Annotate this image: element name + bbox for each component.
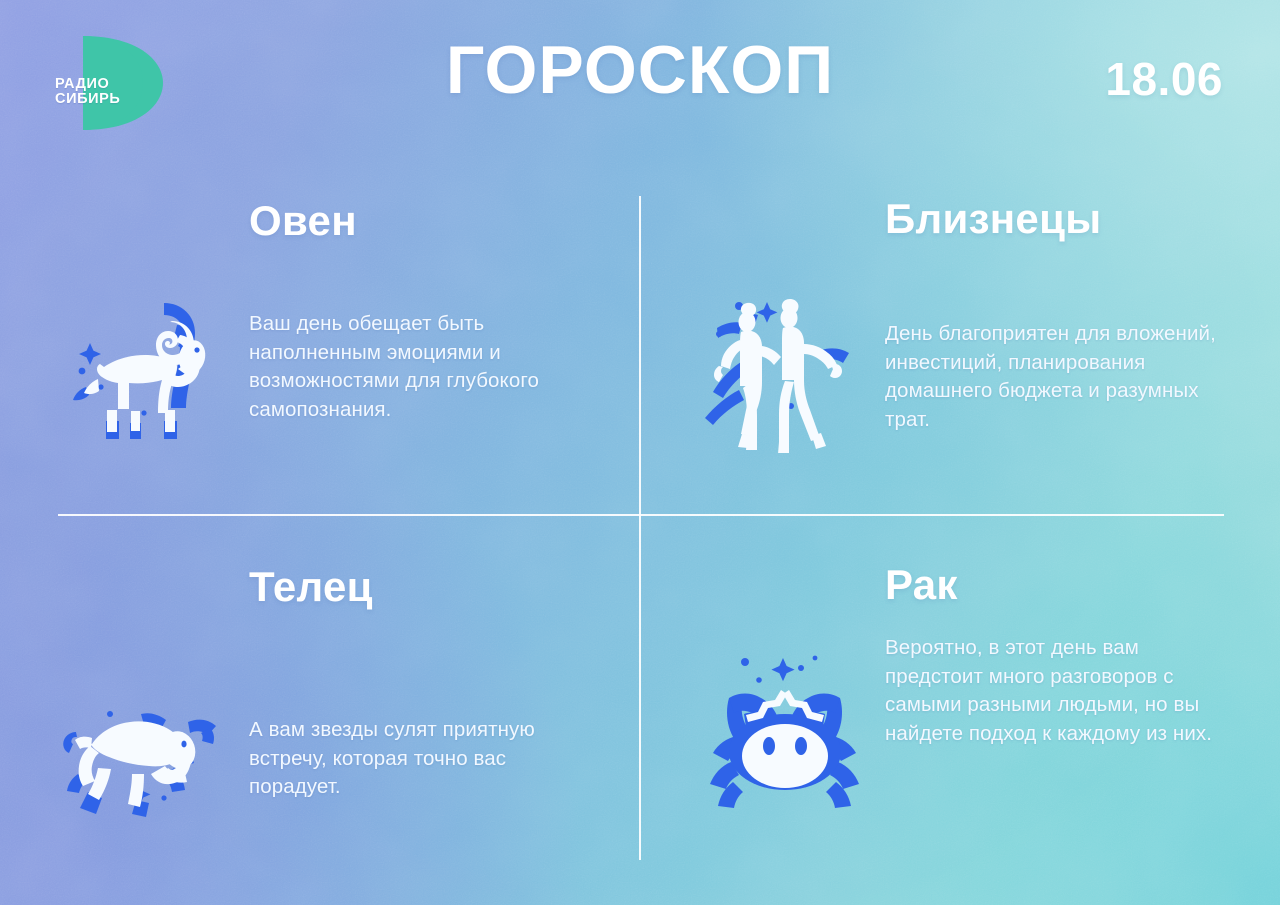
sign-title-aries: Овен: [249, 200, 357, 242]
gemini-twins-icon: [699, 288, 859, 453]
horoscope-poster: РАДИО СИБИРЬ ГОРОСКОП 18.06: [0, 0, 1280, 905]
sign-title-cancer: Рак: [885, 564, 958, 606]
sign-card-taurus: Телец А вам звезды сулят приятную встреч…: [0, 516, 639, 860]
sign-text-taurus: А вам звезды сулят приятную встречу, кот…: [249, 716, 589, 802]
sign-card-aries: Овен Ваш день обещает быть наполненным э…: [0, 170, 639, 514]
sign-card-gemini: Близнецы День благоприятен для вложений,…: [641, 170, 1280, 514]
sign-title-taurus: Телец: [249, 566, 373, 608]
sign-card-cancer: Рак Вероятно, в этот день вам предстоит …: [641, 516, 1280, 860]
cancer-crab-icon: [703, 644, 868, 814]
date-label: 18.06: [1105, 52, 1223, 106]
aries-ram-icon: [68, 295, 218, 445]
sign-title-gemini: Близнецы: [885, 198, 1101, 240]
sign-text-aries: Ваш день обещает быть наполненным эмоция…: [249, 310, 579, 425]
taurus-bull-icon: [62, 688, 217, 818]
sign-text-cancer: Вероятно, в этот день вам предстоит мног…: [885, 634, 1235, 749]
page-title: ГОРОСКОП: [0, 36, 1280, 104]
sign-text-gemini: День благоприятен для вложений, инвестиц…: [885, 320, 1230, 435]
